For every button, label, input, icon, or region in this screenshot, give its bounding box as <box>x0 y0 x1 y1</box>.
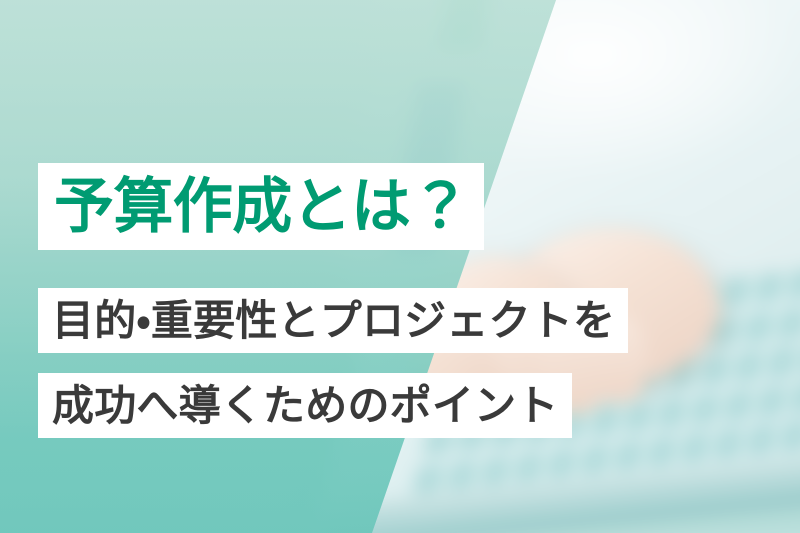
headline-sub-plate-2: 成功へ導くためのポイント <box>38 373 572 438</box>
blog-header-banner: 予算作成とは？ 目的・重要性とプロジェクトを 成功へ導くためのポイント <box>0 0 800 533</box>
headline-sub-text-2: 成功へ導くためのポイント <box>52 385 559 427</box>
headline-group: 予算作成とは？ 目的・重要性とプロジェクトを 成功へ導くためのポイント <box>0 0 800 533</box>
headline-main-text: 予算作成とは？ <box>54 177 470 237</box>
headline-sub-text-1: 目的・重要性とプロジェクトを <box>52 300 615 342</box>
headline-sub-plate-1: 目的・重要性とプロジェクトを <box>38 288 628 353</box>
headline-main-plate: 予算作成とは？ <box>38 163 484 250</box>
